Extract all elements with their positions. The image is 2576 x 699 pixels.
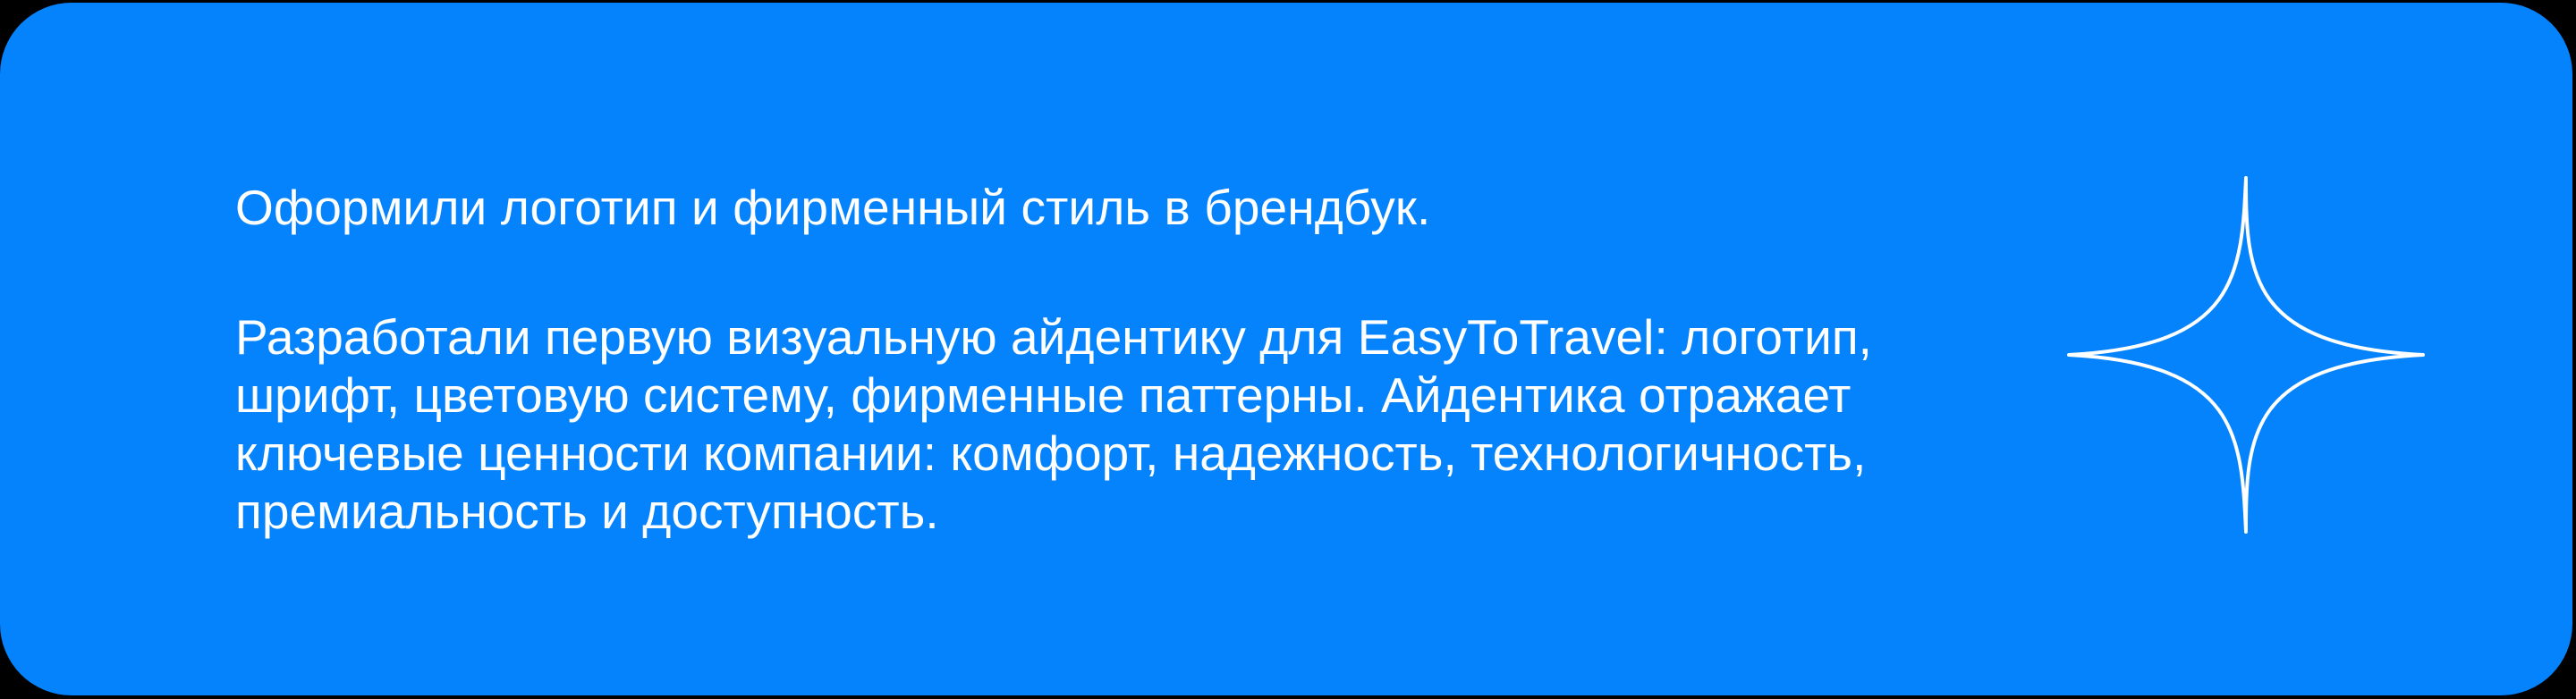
- body-line-1: Разработали первую визуальную айдентику …: [235, 308, 1863, 366]
- body-paragraph: Разработали первую визуальную айдентику …: [235, 308, 1863, 541]
- body-line-2: шрифт, цветовую систему, фирменные патте…: [235, 366, 1863, 425]
- headline-text: Оформили логотип и фирменный стиль в бре…: [235, 179, 1430, 236]
- body-line-3: ключевые ценности компании: комфорт, над…: [235, 425, 1863, 483]
- content-area: Оформили логотип и фирменный стиль в бре…: [235, 3, 1890, 695]
- four-pointed-star-icon: [2069, 176, 2423, 534]
- body-line-4: премиальность и доступность.: [235, 483, 1863, 541]
- promo-card: Оформили логотип и фирменный стиль в бре…: [0, 3, 2572, 695]
